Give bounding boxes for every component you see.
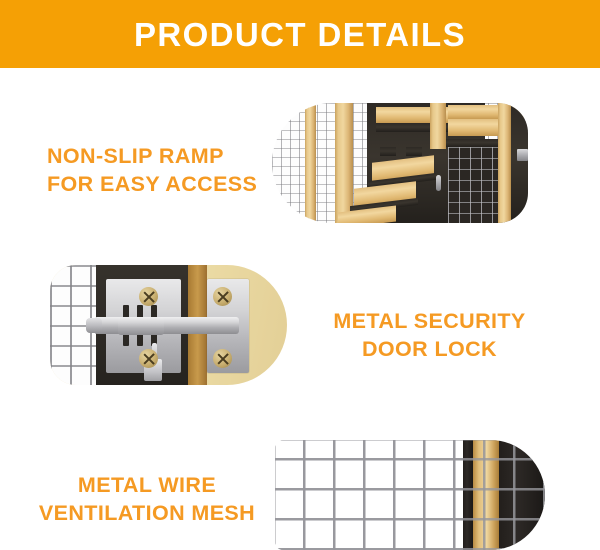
wire-mesh-over-frame bbox=[275, 440, 545, 550]
page-title: PRODUCT DETAILS bbox=[134, 18, 466, 51]
coop-interior-scene bbox=[272, 103, 528, 223]
slide-bolt-end-cap bbox=[86, 318, 102, 333]
feature-label-line2: VENTILATION MESH bbox=[22, 500, 272, 528]
ventilation-mesh-scene bbox=[275, 440, 545, 550]
bolt-knob-handle[interactable] bbox=[118, 317, 164, 335]
screw-icon-top-right bbox=[213, 287, 232, 306]
feature-label-line2: DOOR LOCK bbox=[327, 336, 532, 364]
door-frame-right bbox=[510, 103, 528, 223]
wood-post-center bbox=[430, 103, 446, 149]
wood-post-left-1 bbox=[305, 103, 316, 223]
feature-label-line1: METAL SECURITY bbox=[327, 308, 532, 336]
wood-post-right bbox=[498, 103, 511, 223]
run-door-latch-knob-icon bbox=[436, 175, 441, 191]
slide-bolt-bar[interactable] bbox=[94, 317, 239, 334]
feature-image-metal-security-door-lock bbox=[50, 265, 287, 385]
feature-label-metal-security-door-lock: METAL SECURITY DOOR LOCK bbox=[327, 308, 532, 363]
screw-icon-top-left bbox=[139, 287, 158, 306]
feature-image-metal-wire-ventilation-mesh bbox=[275, 440, 545, 550]
door-lock-scene bbox=[50, 265, 287, 385]
feature-label-line1: NON-SLIP RAMP bbox=[47, 143, 257, 171]
header-banner: PRODUCT DETAILS bbox=[0, 0, 600, 68]
feature-label-line2: FOR EASY ACCESS bbox=[47, 171, 257, 199]
screw-icon-bottom-left bbox=[139, 349, 158, 368]
screw-icon-bottom-right bbox=[213, 349, 232, 368]
ramp-hinge-bracket-right bbox=[406, 147, 422, 156]
ramp-hinge-bracket-left bbox=[380, 147, 396, 156]
wood-post-left-2 bbox=[335, 103, 353, 223]
feature-label-metal-wire-ventilation-mesh: METAL WIRE VENTILATION MESH bbox=[22, 472, 272, 527]
feature-label-non-slip-ramp: NON-SLIP RAMP FOR EASY ACCESS bbox=[47, 143, 257, 198]
feature-label-line1: METAL WIRE bbox=[22, 472, 272, 500]
door-latch-icon bbox=[517, 149, 528, 161]
feature-image-non-slip-ramp bbox=[272, 103, 528, 223]
